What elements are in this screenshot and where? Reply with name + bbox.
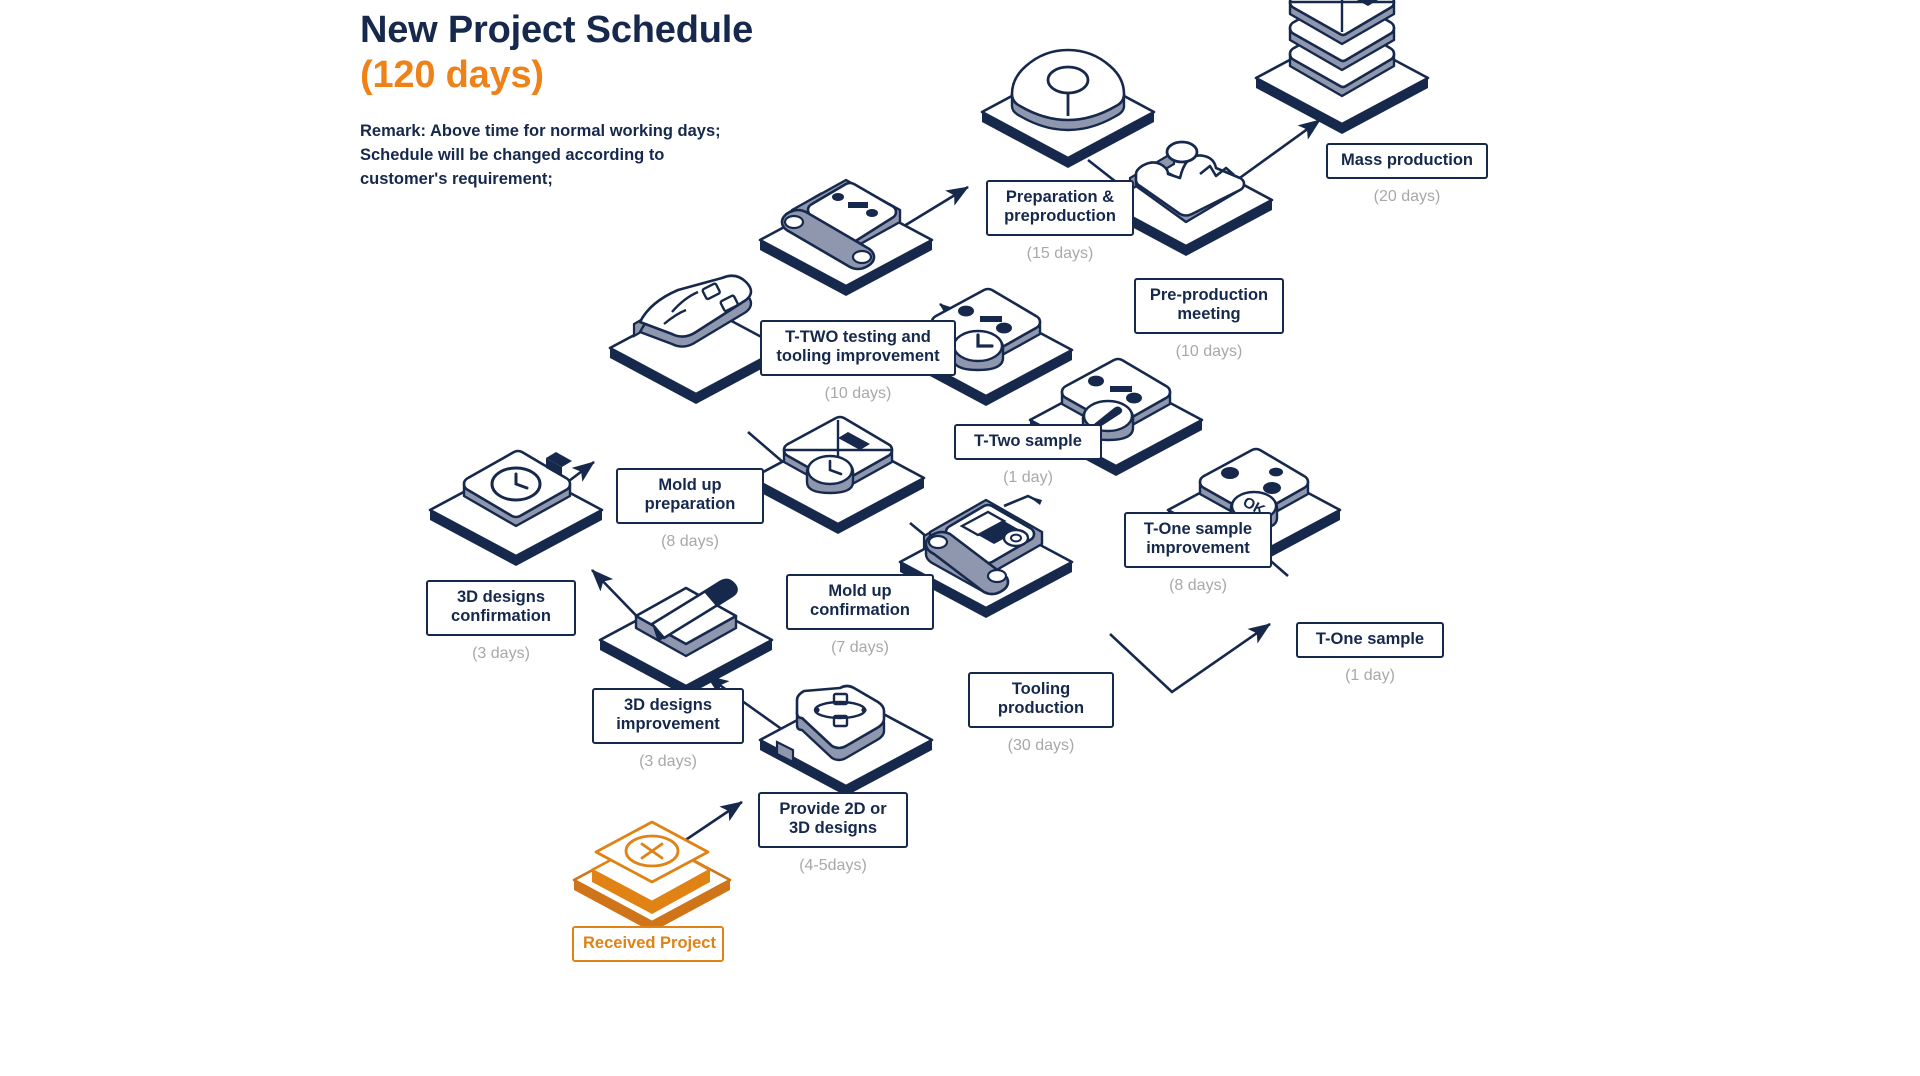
node-preparation-preproduction[interactable]: Preparation & preproduction (15 days) (986, 180, 1134, 263)
node-mass-production[interactable]: Mass production (20 days) (1326, 143, 1488, 206)
node-received-project-label: Received Project (572, 926, 724, 962)
diagram-canvas: New Project Schedule (120 days) Remark: … (0, 0, 1920, 1076)
node-t-one-sample[interactable]: T-One sample (1 day) (1296, 622, 1444, 685)
node-designs-improvement[interactable]: 3D designs improvement (3 days) (592, 688, 744, 771)
node-t-one-sample-improvement-days: (8 days) (1124, 577, 1272, 595)
node-t-two-sample-days: (1 day) (954, 469, 1102, 487)
node-tooling-production[interactable]: Tooling production (30 days) (968, 672, 1114, 755)
node-t-one-sample-days: (1 day) (1296, 667, 1444, 685)
node-mass-production-label: Mass production (1326, 143, 1488, 179)
node-mold-up-confirmation-days: (7 days) (786, 639, 934, 657)
remark-line-2: Schedule will be changed according to (360, 144, 920, 168)
node-preproduction-meeting-label: Pre-production meeting (1134, 278, 1284, 334)
arrow-tooling-to-tonesample (1110, 624, 1270, 692)
node-preparation-preproduction-days: (15 days) (986, 245, 1134, 263)
node-preproduction-meeting-days: (10 days) (1134, 343, 1284, 361)
node-designs-improvement-days: (3 days) (592, 753, 744, 771)
node-designs-confirmation[interactable]: 3D designs confirmation (3 days) (426, 580, 576, 663)
mold-chip-icon (610, 276, 782, 404)
page-title-line1: New Project Schedule (360, 8, 920, 53)
vector-layer: OK (0, 0, 1920, 1076)
node-mold-up-confirmation[interactable]: Mold up confirmation (7 days) (786, 574, 934, 657)
arrow-received-to-provide (644, 802, 742, 868)
x-circle-chip-icon (574, 822, 730, 932)
remark-block: Remark: Above time for normal working da… (360, 120, 920, 192)
header-block: New Project Schedule (120 days) Remark: … (360, 8, 920, 191)
node-provide-designs[interactable]: Provide 2D or 3D designs (4-5days) (758, 792, 908, 875)
clock-chip-icon (430, 451, 602, 566)
pencil-chip-icon (600, 580, 772, 696)
node-designs-improvement-label: 3D designs improvement (592, 688, 744, 744)
node-mass-production-days: (20 days) (1326, 188, 1488, 206)
node-mold-up-confirmation-label: Mold up confirmation (786, 574, 934, 630)
mold-dome-chip-icon (982, 50, 1154, 168)
node-t-two-sample[interactable]: T-Two sample (1 day) (954, 424, 1102, 487)
node-preparation-preproduction-label: Preparation & preproduction (986, 180, 1134, 236)
arrow-ttwotesting-to-preparation (845, 187, 968, 262)
node-provide-designs-label: Provide 2D or 3D designs (758, 792, 908, 848)
node-t-one-sample-label: T-One sample (1296, 622, 1444, 658)
node-mold-up-preparation[interactable]: Mold up preparation (8 days) (616, 468, 764, 551)
stacked-boxes-icon (1256, 0, 1428, 134)
node-designs-confirmation-label: 3D designs confirmation (426, 580, 576, 636)
arrow-improve-to-confirm (592, 570, 655, 635)
arrow-meeting-to-massprod (1230, 120, 1320, 185)
node-t-two-sample-label: T-Two sample (954, 424, 1102, 460)
node-mold-up-preparation-label: Mold up preparation (616, 468, 764, 524)
node-mold-up-preparation-days: (8 days) (616, 533, 764, 551)
node-designs-confirmation-days: (3 days) (426, 645, 576, 663)
arrow-confirm-to-moldprep (528, 462, 594, 512)
node-t-one-sample-improvement-label: T-One sample improvement (1124, 512, 1272, 568)
node-provide-designs-days: (4-5days) (758, 857, 908, 875)
node-t-two-testing-label: T-TWO testing and tooling improvement (760, 320, 956, 376)
drawing-chip-icon (760, 686, 932, 796)
node-tooling-production-label: Tooling production (968, 672, 1114, 728)
node-received-project[interactable]: Received Project (572, 926, 724, 962)
page-title-line2: (120 days) (360, 53, 920, 98)
node-tooling-production-days: (30 days) (968, 737, 1114, 755)
node-preproduction-meeting[interactable]: Pre-production meeting (10 days) (1134, 278, 1284, 361)
remark-line-3: customer's requirement; (360, 168, 920, 192)
remark-line-1: Remark: Above time for normal working da… (360, 120, 920, 144)
node-t-one-sample-improvement[interactable]: T-One sample improvement (8 days) (1124, 512, 1272, 595)
clock-block-icon (752, 417, 924, 534)
testing-chip-icon (760, 180, 932, 296)
node-t-two-testing[interactable]: T-TWO testing and tooling improvement (1… (760, 320, 956, 403)
node-t-two-testing-days: (10 days) (760, 385, 956, 403)
